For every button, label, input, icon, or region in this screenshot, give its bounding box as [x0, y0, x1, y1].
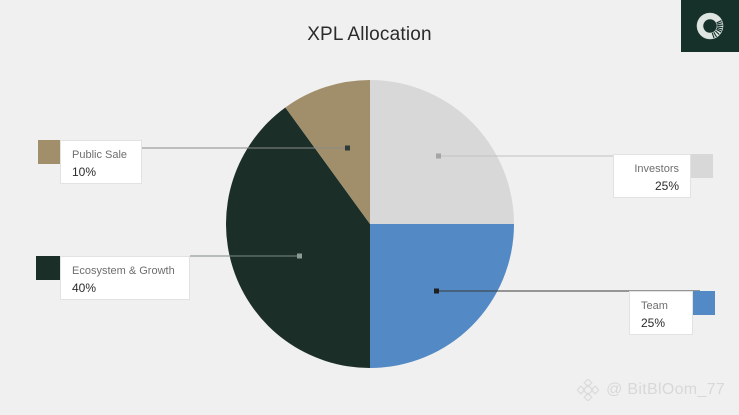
diamond-cluster-icon	[577, 379, 599, 401]
plasma-ring-logo-icon	[695, 11, 725, 41]
legend-swatch-ecosystem	[36, 256, 60, 280]
brand-logo-tile	[681, 0, 739, 52]
callout-label-public-sale: Public Sale	[72, 148, 130, 162]
callout-label-investors: Investors	[625, 162, 679, 176]
legend-swatch-team	[691, 291, 715, 315]
callout-public-sale[interactable]: Public Sale 10%	[60, 140, 142, 184]
chart-canvas: XPL Allocation Public Sale 10% Ecosystem…	[0, 0, 739, 415]
pie-slice[interactable]	[370, 224, 514, 368]
page-title: XPL Allocation	[0, 24, 739, 46]
callout-value-ecosystem-growth: 40%	[72, 280, 178, 296]
callout-value-public-sale: 10%	[72, 164, 130, 180]
watermark-text: @ BitBlOom_77	[606, 381, 725, 399]
legend-swatch-public-sale	[38, 140, 62, 164]
callout-ecosystem-growth[interactable]: Ecosystem & Growth 40%	[60, 256, 190, 300]
callout-investors[interactable]: Investors 25%	[613, 154, 691, 198]
callout-label-ecosystem-growth: Ecosystem & Growth	[72, 264, 178, 278]
pie-chart-svg	[226, 80, 514, 368]
callout-team[interactable]: Team 25%	[629, 291, 693, 335]
pie-slice[interactable]	[370, 80, 514, 224]
callout-label-team: Team	[641, 299, 681, 313]
watermark: @ BitBlOom_77	[577, 379, 725, 401]
legend-swatch-investors	[689, 154, 713, 178]
pie-chart	[226, 80, 514, 368]
callout-value-team: 25%	[641, 315, 681, 331]
callout-value-investors: 25%	[625, 178, 679, 194]
